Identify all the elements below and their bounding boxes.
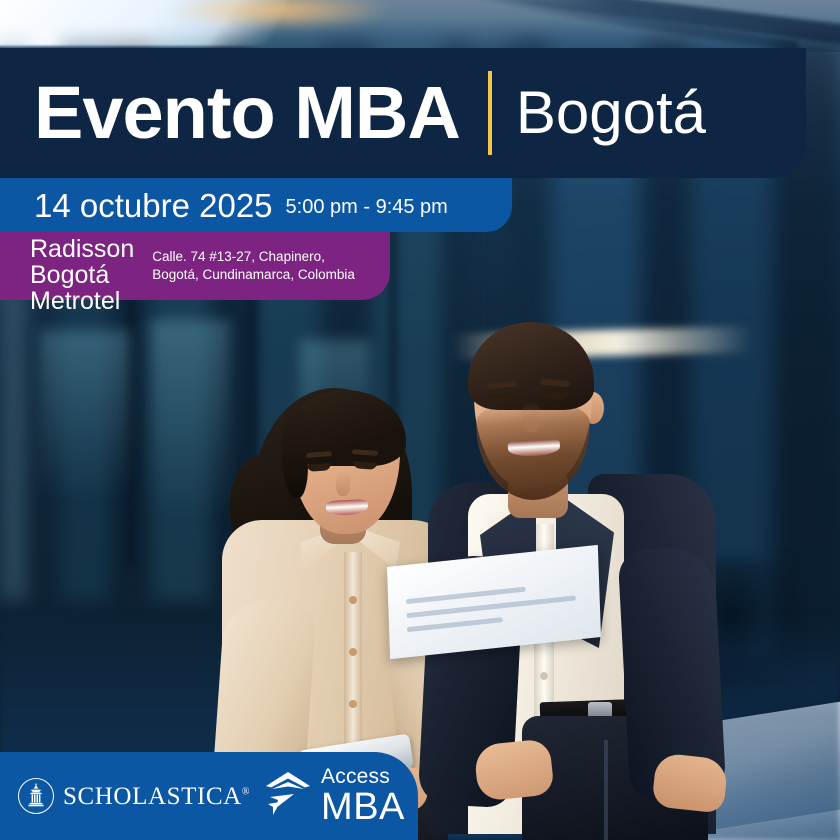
mba-label: MBA [321,788,405,826]
glass-sheen [40,330,130,500]
access-mba-wordmark: Access MBA [321,766,405,826]
glass-sheen [150,320,230,520]
man-shirt-button [540,672,548,680]
page-title: Evento MBA [34,76,460,150]
date-band: 14 octubre 2025 5:00 pm - 9:45 pm [0,178,512,232]
domed-building-icon [18,778,54,814]
document-line [407,617,503,632]
logo-band: SCHOLASTICA® Access MBA [0,752,418,840]
venue-name-line-3: Metrotel [30,288,134,314]
venue-address-line-1: Calle. 74 #13-27, Chapinero, [152,248,355,266]
venue-name-line-2: Bogotá [30,262,134,288]
scholastica-logo: SCHOLASTICA® [18,778,250,814]
scholastica-wordmark: SCHOLASTICA® [63,784,250,809]
man-hand-holding-document [473,738,554,802]
woman-nose [336,472,350,496]
woman-blouse-button [349,700,357,708]
access-mba-logo: Access MBA [264,766,405,826]
event-poster: Evento MBA Bogotá 14 octubre 2025 5:00 p… [0,0,840,840]
title-row: Evento MBA Bogotá [0,71,706,155]
title-divider [488,71,492,155]
venue-name: Radisson Bogotá Metrotel [30,232,134,314]
venue-address: Calle. 74 #13-27, Chapinero, Bogotá, Cun… [134,232,355,284]
man-trouser-crease [604,740,608,840]
venue-name-line-1: Radisson [30,236,134,262]
woman-hair-side [282,412,308,498]
venue-band: Radisson Bogotá Metrotel Calle. 74 #13-2… [0,232,390,300]
city-label: Bogotá [516,83,706,143]
access-label: Access [321,766,405,787]
event-time: 5:00 pm - 9:45 pm [286,193,448,217]
warm-light-glow [170,0,390,30]
woman-blouse-button [349,596,357,604]
access-mba-bird-icon [264,770,312,822]
event-date: 14 octubre 2025 [34,189,273,222]
woman-blouse-button [349,648,357,656]
man-nose [522,402,540,432]
header-band: Evento MBA Bogotá [0,48,806,178]
registered-mark: ® [242,786,250,797]
venue-address-line-2: Bogotá, Cundinamarca, Colombia [152,266,355,284]
